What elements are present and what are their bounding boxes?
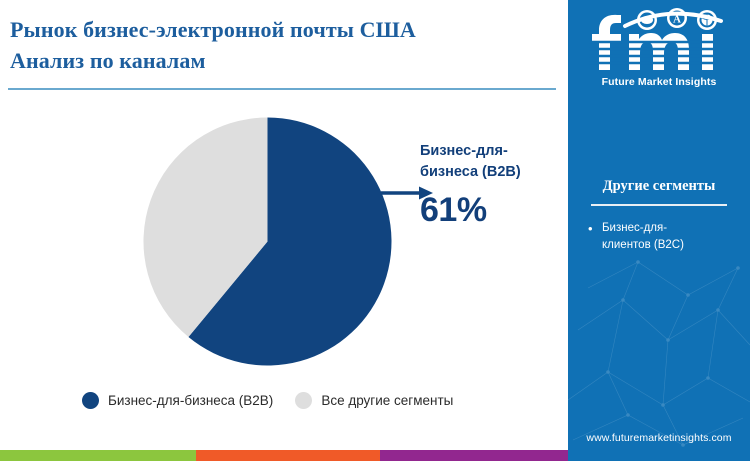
title-divider: [8, 88, 556, 90]
fmi-logo-icon: A: [585, 8, 733, 74]
slide-canvas: Рынок бизнес-электронной почты США Анали…: [0, 0, 750, 461]
logo-tagline: Future Market Insights: [568, 76, 750, 88]
callout-value: 61%: [420, 191, 565, 229]
legend-swatch-icon: [82, 392, 99, 409]
list-item-label-line-1: Бизнес-для-: [602, 222, 667, 234]
list-item[interactable]: • Бизнес-для- клиентов (B2C): [602, 220, 736, 254]
callout: Бизнес-для- бизнеса (B2B) 61%: [420, 141, 565, 229]
color-bar-segment-orange: [196, 450, 380, 461]
content-panel: Рынок бизнес-электронной почты США Анали…: [0, 0, 568, 448]
sidebar: A Future Market Insights Другие сегменты…: [568, 0, 750, 461]
page-title-line-2: Анализ по каналам: [10, 45, 555, 76]
page-title-line-1: Рынок бизнес-электронной почты США: [10, 14, 555, 45]
other-segments-divider: [591, 204, 727, 206]
other-segments-list: • Бизнес-для- клиентов (B2C): [568, 220, 750, 254]
list-item-label-line-2: клиентов (B2C): [602, 239, 684, 251]
page-title: Рынок бизнес-электронной почты США Анали…: [10, 14, 555, 76]
other-segments-section: Другие сегменты • Бизнес-для- клиентов (…: [568, 178, 750, 260]
legend-swatch-icon: [295, 392, 312, 409]
other-segments-title: Другие сегменты: [568, 178, 750, 195]
legend-item-other[interactable]: Все другие сегменты: [295, 392, 453, 409]
pie-chart-svg: [143, 117, 392, 366]
callout-label-line-1: Бизнес-для-: [420, 141, 565, 162]
bullet-icon: •: [588, 220, 593, 237]
chart-legend: Бизнес-для-бизнеса (B2B) Все другие сегм…: [82, 392, 453, 409]
legend-label: Бизнес-для-бизнеса (B2B): [108, 393, 273, 408]
site-url[interactable]: www.futuremarketinsights.com: [568, 432, 750, 444]
bottom-color-bar: [0, 450, 568, 461]
logo[interactable]: A Future Market Insights: [568, 8, 750, 88]
color-bar-segment-purple: [380, 450, 568, 461]
callout-label-line-2: бизнеса (B2B): [420, 162, 565, 183]
pie-chart: [143, 117, 392, 366]
color-bar-segment-green: [0, 450, 196, 461]
legend-label: Все другие сегменты: [321, 393, 453, 408]
legend-item-b2b[interactable]: Бизнес-для-бизнеса (B2B): [82, 392, 273, 409]
